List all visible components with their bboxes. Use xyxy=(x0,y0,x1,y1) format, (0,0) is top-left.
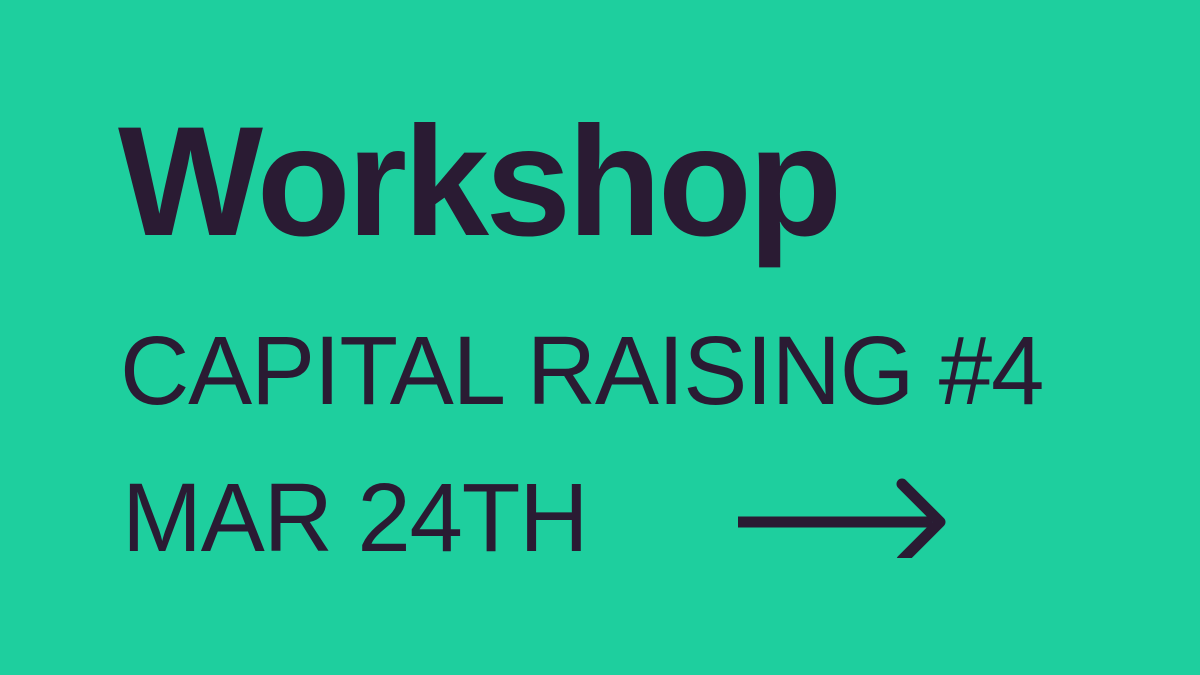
arrow-slot[interactable] xyxy=(736,476,952,558)
promo-card: Workshop CAPITAL RAISING #4 MAR 24TH xyxy=(0,0,1200,675)
headline-row: Workshop xyxy=(118,104,850,264)
arrow-right-icon[interactable] xyxy=(736,476,952,558)
date-row: MAR 24TH xyxy=(122,469,952,565)
subtitle-text: CAPITAL RAISING #4 xyxy=(120,322,1043,419)
event-date: MAR 24TH xyxy=(122,469,587,566)
page-title: Workshop xyxy=(118,104,839,260)
subtitle-row: CAPITAL RAISING #4 xyxy=(120,322,1053,418)
